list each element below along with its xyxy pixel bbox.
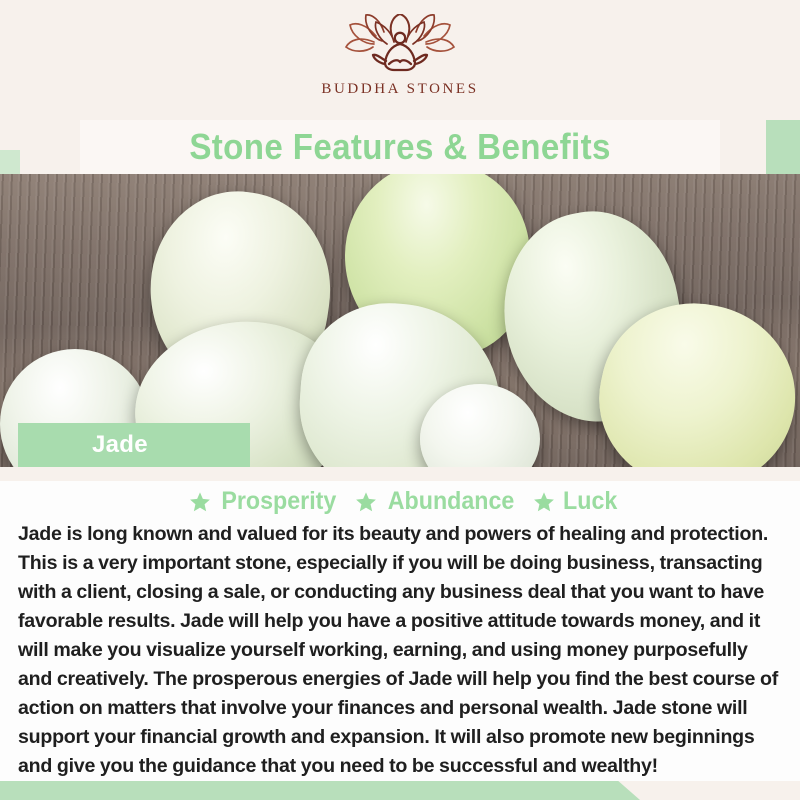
stone-name: Jade: [92, 431, 148, 459]
stone-info-poster: BUDDHA STONES Stone Features & Benefits …: [0, 0, 800, 800]
lotus-meditation-icon: [340, 14, 460, 76]
content-panel: Prosperity Abundance Luck Jade: [0, 481, 800, 781]
benefit-label: Abundance: [387, 487, 514, 516]
page-title: Stone Features & Benefits: [189, 126, 610, 168]
benefit-label: Prosperity: [221, 487, 336, 516]
star-icon: [189, 491, 211, 513]
stone-description: Jade is long known and valued for its be…: [18, 520, 790, 781]
benefit-label: Luck: [563, 487, 617, 516]
benefits-row: Prosperity Abundance Luck: [18, 487, 790, 516]
benefit-item: Luck: [533, 487, 619, 516]
benefit-item: Prosperity: [189, 487, 341, 516]
benefit-item: Abundance: [355, 487, 519, 516]
photo-content-divider: [0, 467, 800, 481]
star-icon: [355, 491, 377, 513]
stone-photo: Jade: [0, 174, 800, 467]
stone-name-band: Jade: [18, 423, 250, 467]
star-icon: [533, 491, 555, 513]
title-banner: Stone Features & Benefits: [80, 120, 720, 174]
brand-name: BUDDHA STONES: [321, 81, 478, 98]
brand-header: BUDDHA STONES: [0, 0, 800, 120]
